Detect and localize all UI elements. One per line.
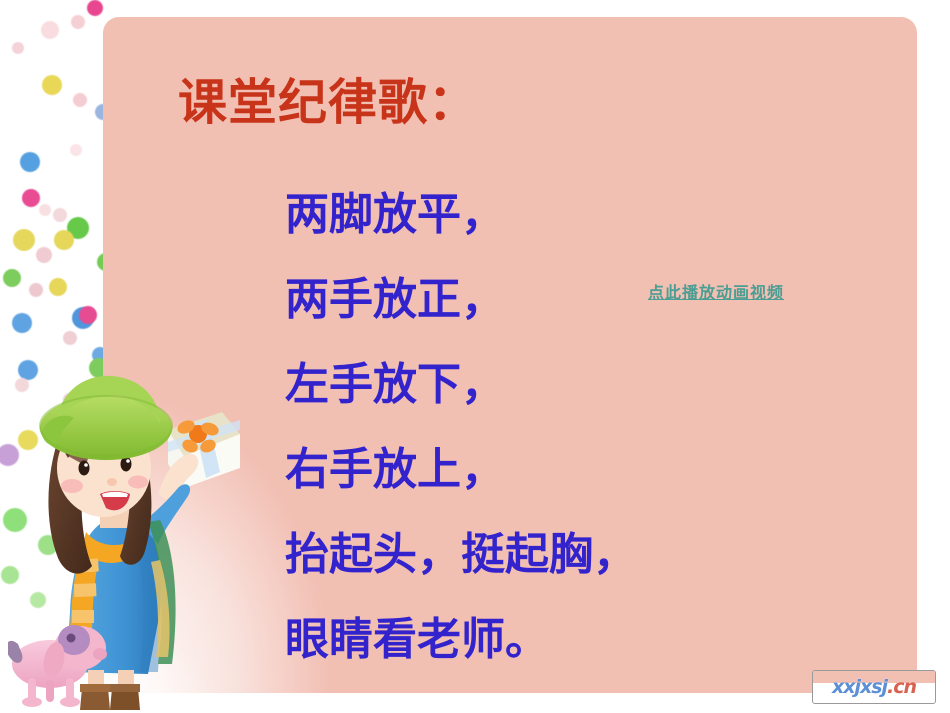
lyric-line: 右手放上， — [285, 427, 637, 512]
hat — [40, 376, 172, 460]
polka-dot — [13, 229, 35, 251]
polka-dot — [41, 21, 59, 39]
page-title: 课堂纪律歌： — [178, 78, 478, 127]
polka-dot — [54, 230, 74, 250]
eye-left — [79, 461, 90, 476]
watermark-text: xxjxsj.cn — [813, 676, 935, 698]
play-animation-video-link[interactable]: 点此播放动画视频 — [648, 279, 784, 303]
polka-dot — [3, 269, 21, 287]
polka-dot — [12, 313, 32, 333]
blush-right — [128, 476, 148, 489]
polka-dot — [20, 152, 40, 172]
polka-dot — [49, 278, 67, 296]
lyric-line: 两脚放平， — [285, 172, 637, 257]
lyric-line: 两手放正， — [285, 257, 637, 342]
lyric-line: 抬起头，挺起胸， — [285, 512, 637, 597]
polka-dot — [42, 75, 62, 95]
polka-dot — [53, 208, 67, 222]
polka-dot — [22, 189, 40, 207]
slide-canvas: 课堂纪律歌： 两脚放平， 两手放正， 左手放下， 右手放上， 抬起头，挺起胸， … — [0, 0, 950, 713]
polka-dot — [79, 306, 97, 324]
lyric-line: 左手放下， — [285, 342, 637, 427]
polka-dot — [29, 283, 43, 297]
polka-dot — [87, 0, 103, 16]
polka-dot — [70, 144, 82, 156]
girl-with-gift-and-dog-illustration — [8, 372, 253, 713]
lyrics-block: 两脚放平， 两手放正， 左手放下， 右手放上， 抬起头，挺起胸， 眼睛看老师。 — [285, 172, 637, 682]
watermark-suffix: .cn — [887, 676, 916, 698]
polka-dot — [39, 204, 51, 216]
lyric-line: 眼睛看老师。 — [285, 597, 637, 682]
polka-dot — [71, 15, 85, 29]
blush-left — [61, 479, 83, 493]
polka-dot — [36, 247, 52, 263]
polka-dot — [12, 42, 24, 54]
watermark-name: xxjxsj — [832, 676, 887, 698]
polka-dot — [73, 93, 87, 107]
polka-dot — [63, 331, 77, 345]
site-watermark: xxjxsj.cn — [812, 670, 936, 704]
